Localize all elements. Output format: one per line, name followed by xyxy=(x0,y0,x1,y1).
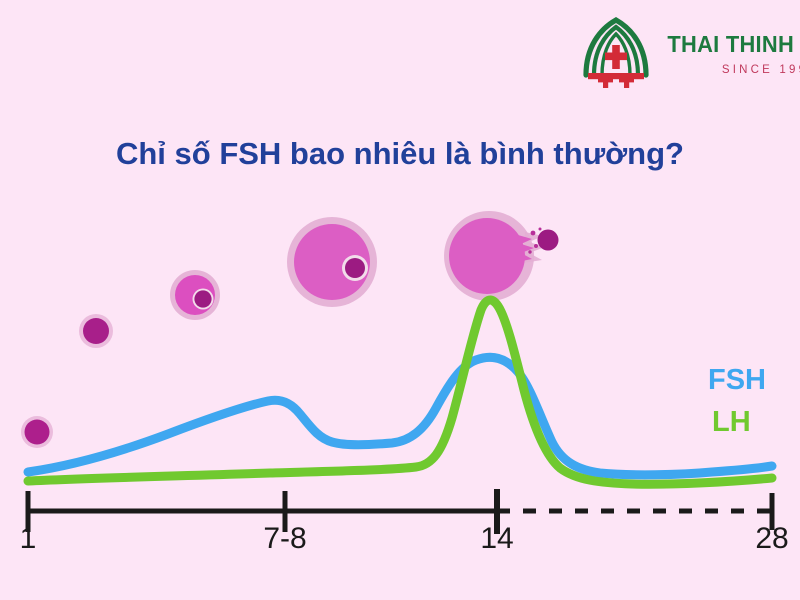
follicle-ovulating xyxy=(444,211,558,301)
follicle-secondary xyxy=(170,270,220,320)
follicle-primary xyxy=(79,314,113,348)
hormone-cycle-chart: 1 7-8 14 28 FSH LH xyxy=(0,0,800,600)
legend-item-lh: LH xyxy=(712,408,751,437)
lh-curve xyxy=(28,300,772,484)
infographic-canvas: THAI THINH MEDIC SINCE 1998 Chỉ số FSH b… xyxy=(0,0,800,600)
axis-label-day-14: 14 xyxy=(480,524,513,554)
fsh-curve xyxy=(28,357,772,475)
axis-label-day-28: 28 xyxy=(755,524,788,554)
axis-label-day-1: 1 xyxy=(20,524,37,554)
follicle-antral xyxy=(287,217,377,307)
axis-label-day-7-8: 7-8 xyxy=(263,524,306,554)
follicle-primordial xyxy=(21,416,53,448)
chart-canvas xyxy=(0,0,800,600)
legend-item-fsh: FSH xyxy=(708,366,766,395)
timeline-axis xyxy=(28,489,772,534)
